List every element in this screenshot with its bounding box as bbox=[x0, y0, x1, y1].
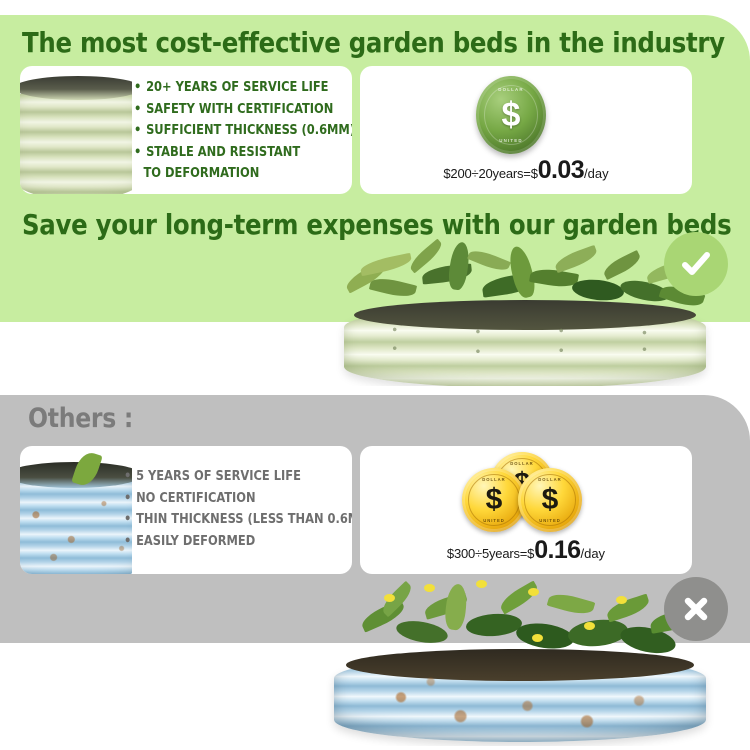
ours-price-expression: $200÷20years=$ bbox=[443, 166, 537, 181]
others-planter-thumbnail bbox=[20, 446, 132, 574]
list-item: SUFFICIENT THICKNESS (0.6MM) bbox=[134, 120, 352, 142]
ours-planter-thumbnail bbox=[20, 66, 132, 194]
dollar-sign: $ bbox=[542, 485, 559, 515]
x-icon bbox=[679, 592, 713, 626]
ours-coin-art: DOLLAR UNITED $ bbox=[360, 66, 692, 158]
ours-features-card: 20+ YEARS OF SERVICE LIFE SAFETY WITH CE… bbox=[20, 66, 352, 194]
others-features-card: 5 YEARS OF SERVICE LIFE NO CERTIFICATION… bbox=[20, 446, 352, 574]
dollar-coin-gold-right-icon: DOLLAR UNITED $ bbox=[518, 468, 582, 532]
list-item: THIN THICKNESS (LESS THAN 0.6MM) bbox=[124, 509, 352, 531]
list-item: STABLE AND RESISTANT bbox=[134, 142, 352, 164]
ours-price-line: $200÷20years=$0.03/day bbox=[360, 156, 692, 185]
others-price-amount: 0.16 bbox=[534, 536, 580, 564]
others-cost-card: DOLLAR UNITED $ DOLLAR UNITED $ DOLLAR U… bbox=[360, 446, 692, 574]
ours-cost-card: DOLLAR UNITED $ $200÷20years=$0.03/day bbox=[360, 66, 692, 194]
ours-bed-vessel bbox=[344, 306, 706, 386]
dollar-sign: $ bbox=[486, 485, 503, 515]
dollar-coin-green-icon: DOLLAR UNITED $ bbox=[476, 76, 546, 154]
list-item: 20+ YEARS OF SERVICE LIFE bbox=[134, 77, 352, 99]
others-headline: Others : bbox=[28, 403, 133, 434]
list-item-continuation: TO DEFORMATION bbox=[134, 163, 352, 185]
comparison-infographic: The most cost-effective garden beds in t… bbox=[0, 0, 750, 750]
ours-verdict-badge bbox=[664, 232, 728, 296]
dollar-sign: $ bbox=[502, 98, 521, 132]
list-item: 5 YEARS OF SERVICE LIFE bbox=[124, 466, 352, 488]
others-coin-art: DOLLAR UNITED $ DOLLAR UNITED $ DOLLAR U… bbox=[360, 446, 692, 538]
ours-price-unit: /day bbox=[584, 166, 609, 181]
check-icon bbox=[678, 246, 714, 282]
ours-headline: The most cost-effective garden beds in t… bbox=[22, 26, 725, 59]
others-verdict-badge bbox=[664, 577, 728, 641]
ours-feature-list: 20+ YEARS OF SERVICE LIFE SAFETY WITH CE… bbox=[134, 77, 352, 185]
others-price-unit: /day bbox=[580, 546, 605, 561]
others-price-line: $300÷5years=$0.16/day bbox=[360, 536, 692, 565]
others-garden-bed-photo bbox=[320, 578, 720, 746]
list-item: SAFETY WITH CERTIFICATION bbox=[134, 99, 352, 121]
dollar-coin-gold-left-icon: DOLLAR UNITED $ bbox=[462, 468, 526, 532]
ours-price-amount: 0.03 bbox=[538, 156, 584, 184]
list-item: NO CERTIFICATION bbox=[124, 488, 352, 510]
others-price-expression: $300÷5years=$ bbox=[447, 546, 534, 561]
others-bed-vessel bbox=[334, 656, 706, 742]
others-feature-list: 5 YEARS OF SERVICE LIFE NO CERTIFICATION… bbox=[124, 466, 352, 552]
list-item: EASILY DEFORMED bbox=[124, 531, 352, 553]
ours-garden-bed-photo bbox=[330, 236, 720, 386]
